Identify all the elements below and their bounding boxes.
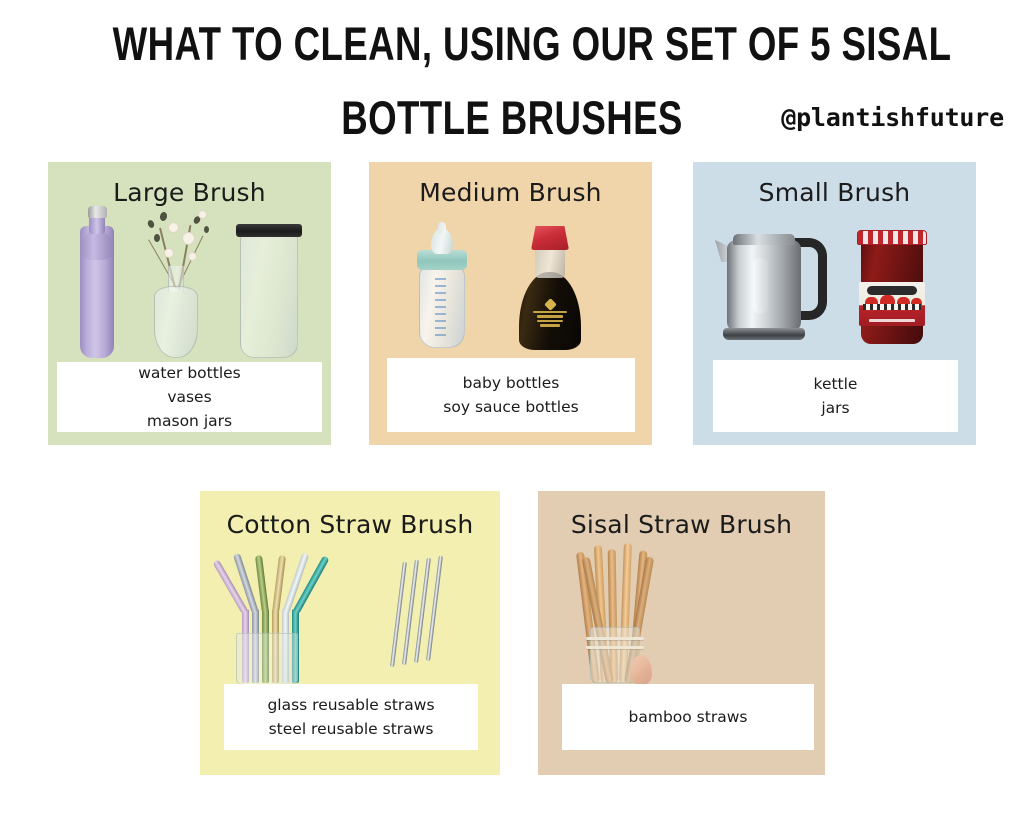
caption-box: water bottles vases mason jars bbox=[57, 362, 322, 432]
caption-line: kettle bbox=[814, 374, 858, 395]
caption-line: mason jars bbox=[147, 411, 232, 432]
product-illustration-group bbox=[48, 204, 331, 362]
card-title: Medium Brush bbox=[369, 178, 652, 207]
product-illustration-group bbox=[538, 537, 825, 685]
caption-line: soy sauce bottles bbox=[443, 397, 578, 418]
caption-line: glass reusable straws bbox=[267, 695, 434, 716]
header: WHAT TO CLEAN, USING OUR SET OF 5 SISAL … bbox=[0, 0, 1024, 155]
card-medium-brush: Medium Brush bbox=[369, 162, 652, 445]
caption-box: bamboo straws bbox=[562, 684, 814, 750]
card-large-brush: Large Brush bbox=[48, 162, 331, 445]
page-title-line-1: WHAT TO CLEAN, USING OUR SET OF 5 SISAL bbox=[113, 18, 912, 70]
caption-line: baby bottles bbox=[463, 373, 560, 394]
caption-line: jars bbox=[821, 398, 849, 419]
card-cotton-straw-brush: Cotton Straw Brush gla bbox=[200, 491, 500, 775]
caption-box: kettle jars bbox=[713, 360, 958, 432]
caption-line: bamboo straws bbox=[629, 707, 748, 728]
card-sisal-straw-brush: Sisal Straw Brush bamboo straws bbox=[538, 491, 825, 775]
caption-box: baby bottles soy sauce bottles bbox=[387, 358, 635, 432]
card-title: Large Brush bbox=[48, 178, 331, 207]
caption-line: vases bbox=[167, 387, 211, 408]
card-title: Sisal Straw Brush bbox=[538, 510, 825, 539]
caption-line: water bottles bbox=[138, 363, 240, 384]
product-illustration-group bbox=[693, 208, 976, 358]
caption-box: glass reusable straws steel reusable str… bbox=[224, 684, 478, 750]
brand-handle: @plantishfuture bbox=[781, 103, 1004, 132]
card-small-brush: Small Brush kettle bbox=[693, 162, 976, 445]
caption-line: steel reusable straws bbox=[269, 719, 434, 740]
card-title: Small Brush bbox=[693, 178, 976, 207]
card-title: Cotton Straw Brush bbox=[200, 510, 500, 539]
product-illustration-group bbox=[369, 210, 652, 360]
product-illustration-group bbox=[200, 537, 500, 685]
